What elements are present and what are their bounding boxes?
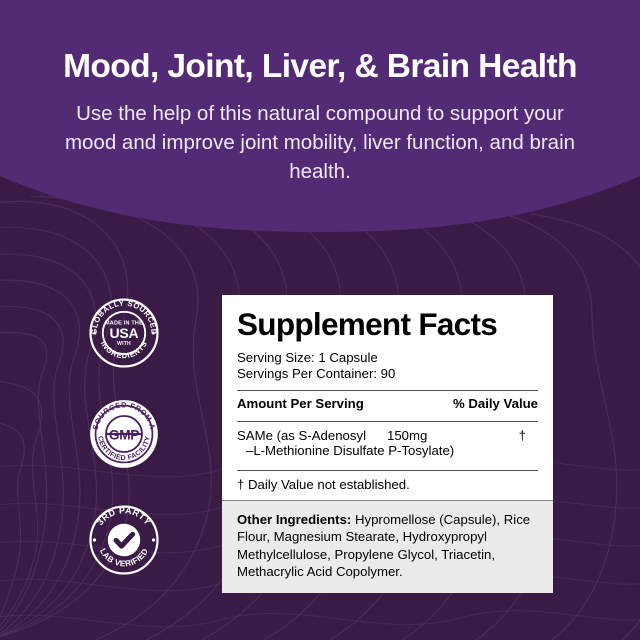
svg-text:3RD PARTY: 3RD PARTY bbox=[95, 505, 153, 527]
servings-per-container: Servings Per Container: 90 bbox=[237, 366, 538, 383]
daily-value-footnote: † Daily Value not established. bbox=[237, 471, 538, 500]
badge-usa-line2: USA bbox=[110, 325, 139, 341]
daily-value-header: % Daily Value bbox=[453, 396, 538, 411]
ingredient-daily-value: † bbox=[519, 428, 526, 443]
header-banner: Mood, Joint, Liver, & Brain Health Use t… bbox=[0, 0, 640, 232]
table-row: SAMe (as S-Adenosyl 150mg –L-Methionine … bbox=[237, 422, 538, 465]
ingredient-name-continued: –L-Methionine Disulfate P-Tosylate) bbox=[237, 443, 538, 458]
badge-gmp-center: GMP bbox=[109, 427, 139, 442]
ingredient-amount: 150mg bbox=[387, 428, 477, 443]
badge-lab-arc-top: 3RD PARTY bbox=[95, 505, 153, 527]
table-header-row: Amount Per Serving % Daily Value bbox=[237, 391, 538, 416]
amount-per-serving-header: Amount Per Serving bbox=[237, 396, 364, 411]
badge-gmp-certified: SOURCED FROM A CERTIFIED FACILITY GMP bbox=[88, 398, 160, 470]
serving-size: Serving Size: 1 Capsule bbox=[237, 350, 538, 367]
page-subtitle: Use the help of this natural compound to… bbox=[18, 99, 622, 186]
other-ingredients-box: Other Ingredients: Hypromellose (Capsule… bbox=[222, 500, 553, 593]
badge-usa-line3: WITH bbox=[117, 341, 131, 347]
page-title: Mood, Joint, Liver, & Brain Health bbox=[18, 48, 622, 86]
ingredient-name: SAMe (as S-Adenosyl bbox=[237, 428, 387, 443]
other-ingredients-label: Other Ingredients: bbox=[237, 512, 351, 527]
supplement-facts-title: Supplement Facts bbox=[237, 309, 538, 341]
badge-third-party-lab-verified: 3RD PARTY LAB VERIFIED bbox=[88, 504, 160, 576]
supplement-facts-panel: Supplement Facts Serving Size: 1 Capsule… bbox=[222, 295, 553, 581]
badge-globally-sourced-usa: GLOBALLY SOURCED INGREDIENTS MADE IN THE… bbox=[88, 297, 160, 369]
